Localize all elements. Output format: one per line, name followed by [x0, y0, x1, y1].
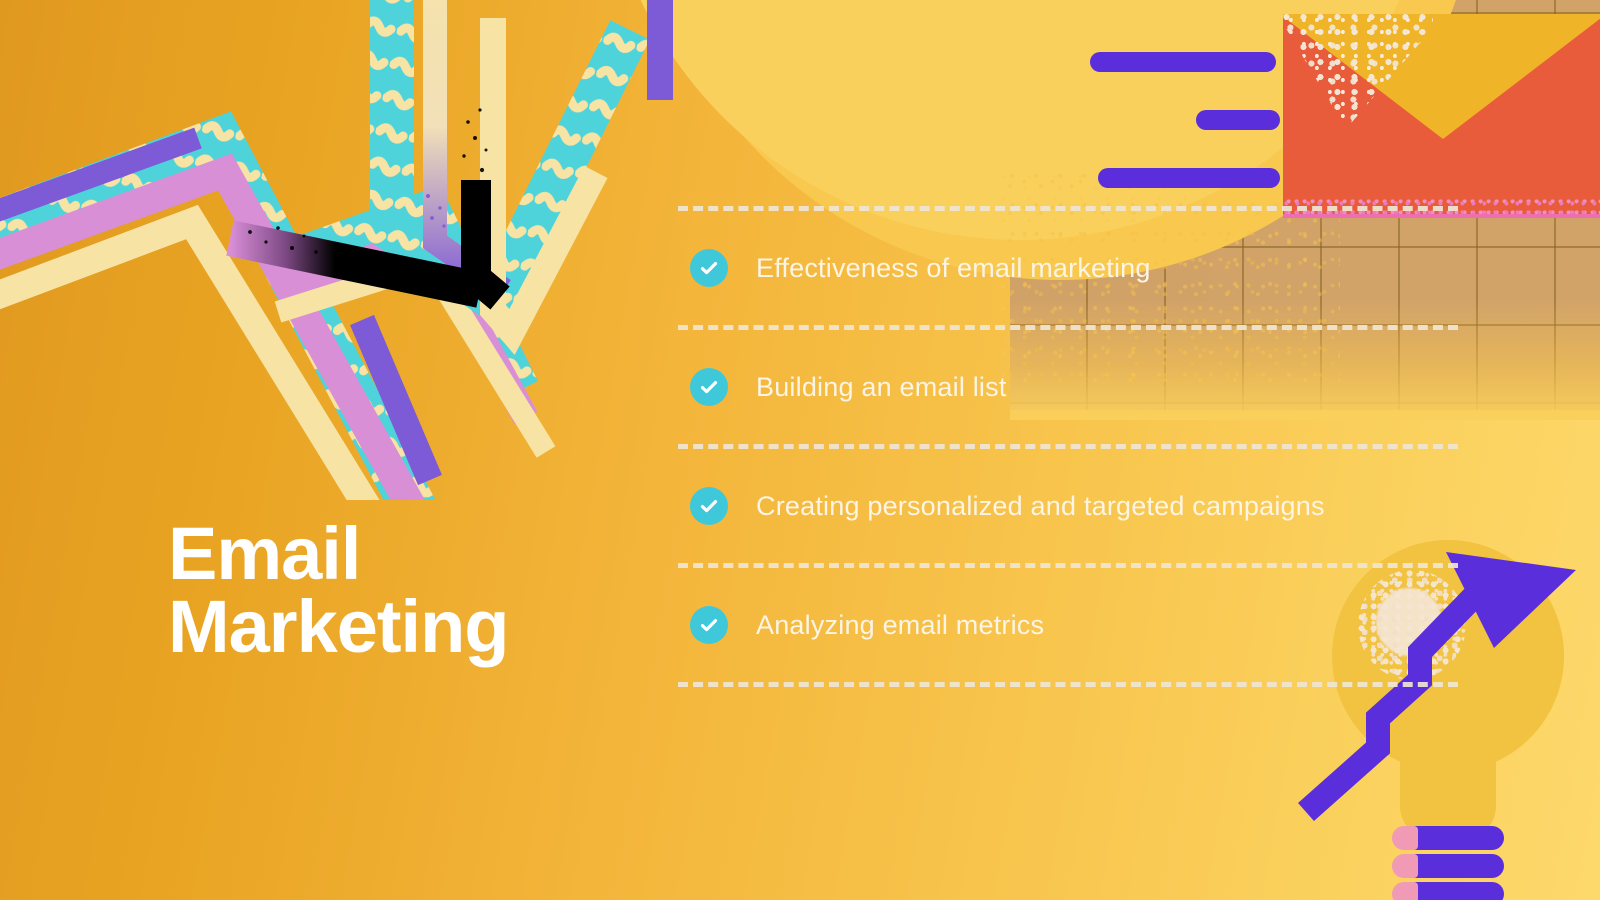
- page-title: Email Marketing: [168, 518, 509, 663]
- divider-2: [678, 444, 1458, 449]
- list-item-label: Creating personalized and targeted campa…: [756, 491, 1325, 522]
- list-item-label: Effectiveness of email marketing: [756, 253, 1151, 284]
- lightbulb-base-pink-2: [1392, 854, 1418, 878]
- feature-checklist: Effectiveness of email marketing Buildin…: [678, 206, 1458, 687]
- purple-bar-medium: [1098, 168, 1280, 188]
- list-item-label: Analyzing email metrics: [756, 610, 1044, 641]
- list-item[interactable]: Effectiveness of email marketing: [678, 211, 1458, 325]
- slide-canvas: Email Marketing Effectiveness of email m…: [0, 0, 1600, 900]
- lightbulb-base-pink-3: [1392, 882, 1418, 900]
- divider-top: [678, 206, 1458, 211]
- check-icon: [690, 249, 728, 287]
- purple-bar-long: [1090, 52, 1276, 72]
- list-item[interactable]: Creating personalized and targeted campa…: [678, 449, 1458, 563]
- check-icon: [690, 368, 728, 406]
- divider-3: [678, 563, 1458, 568]
- list-item-label: Building an email list: [756, 372, 1007, 403]
- list-item[interactable]: Analyzing email metrics: [678, 568, 1458, 682]
- envelope-icon: [1283, 14, 1600, 214]
- check-icon: [690, 487, 728, 525]
- list-item[interactable]: Building an email list: [678, 330, 1458, 444]
- purple-bar-short: [1196, 110, 1280, 130]
- page-title-line-2: Marketing: [168, 591, 509, 664]
- memphis-zigzag-chart-lines: [0, 0, 760, 500]
- page-title-line-1: Email: [168, 518, 509, 591]
- divider-1: [678, 325, 1458, 330]
- check-icon: [690, 606, 728, 644]
- divider-bottom: [678, 682, 1458, 687]
